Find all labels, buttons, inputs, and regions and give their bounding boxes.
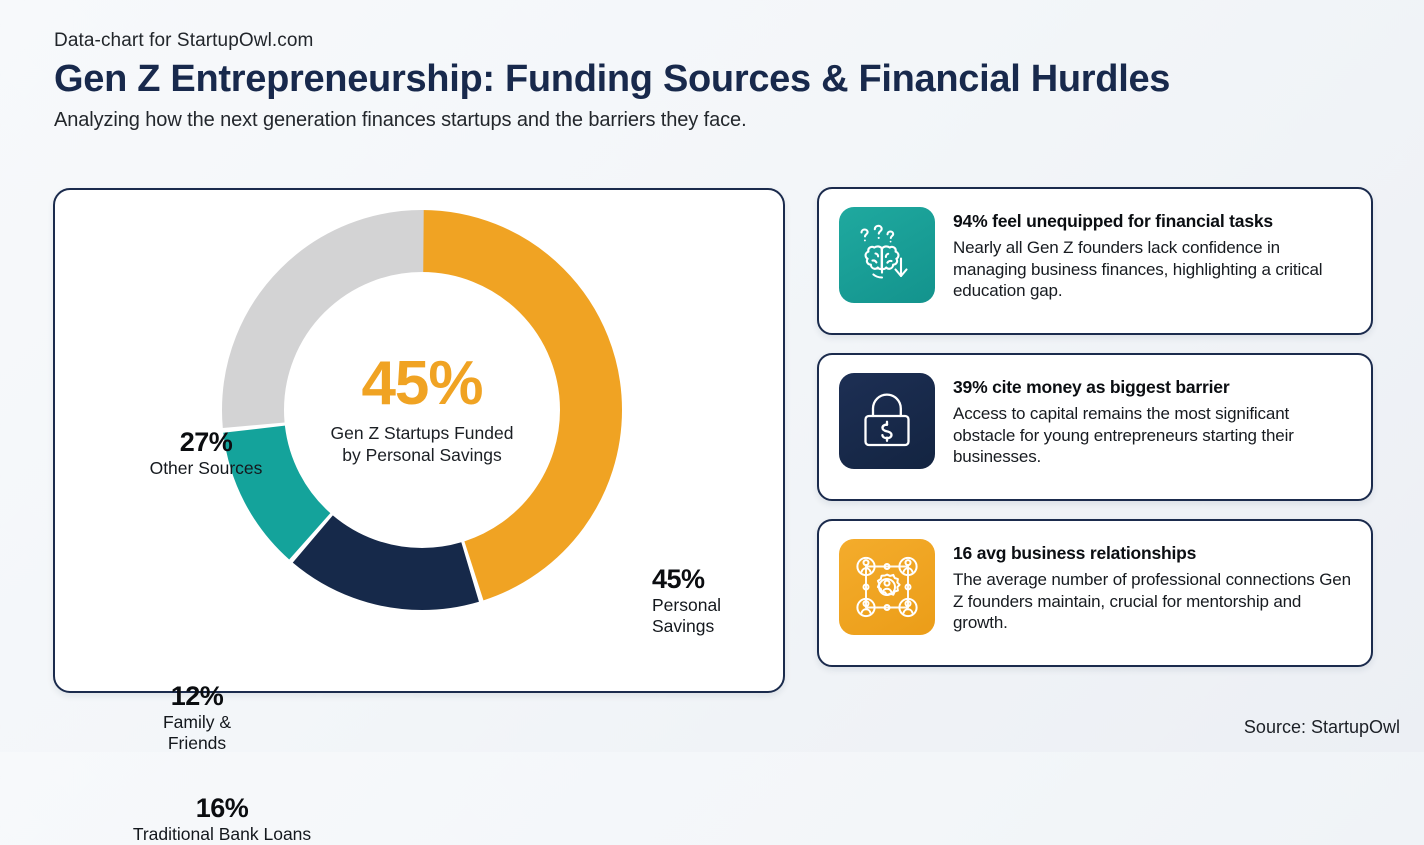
chart-label-family-friends-name-line2: Friends [117,733,277,754]
donut-center-value: 45% [282,353,562,415]
insight-card-title: 94% feel unequipped for financial tasks [953,211,1353,232]
page-title: Gen Z Entrepreneurship: Funding Sources … [54,58,1374,101]
insight-card-text: Access to capital remains the most signi… [953,403,1353,468]
people-network-icon [839,539,935,635]
insight-card-body: 39% cite money as biggest barrier Access… [953,373,1353,468]
chart-label-family-friends-name: Family & Friends [117,712,277,754]
insight-cards: 94% feel unequipped for financial tasks … [817,187,1373,685]
chart-label-traditional-bank-loans: 16% Traditional Bank Loans [77,794,367,845]
lock-dollar-icon [839,373,935,469]
chart-label-other-sources-name: Other Sources [101,458,311,479]
insight-card-text: Nearly all Gen Z founders lack confidenc… [953,237,1353,302]
kicker-text: Data-chart for StartupOwl.com [54,30,1374,52]
donut-chart: 45% Gen Z Startups Funded by Personal Sa… [222,210,622,610]
insight-card-business-relationships: 16 avg business relationships The averag… [817,519,1373,667]
chart-label-family-friends-value: 12% [117,682,277,710]
brain-question-down-arrow-glyph [854,222,920,288]
insight-card-body: 94% feel unequipped for financial tasks … [953,207,1353,302]
insight-card-text: The average number of professional conne… [953,569,1353,634]
chart-label-other-sources-value: 27% [101,428,311,456]
donut-center-caption: Gen Z Startups Funded by Personal Saving… [282,423,562,467]
donut-center-label: 45% Gen Z Startups Funded by Personal Sa… [282,353,562,467]
donut-chart-panel: 45% Gen Z Startups Funded by Personal Sa… [53,188,785,693]
chart-label-personal-savings: 45% Personal Savings [652,565,782,637]
donut-center-caption-line1: Gen Z Startups Funded [282,423,562,445]
donut-center-caption-line2: by Personal Savings [282,445,562,467]
chart-label-other-sources: 27% Other Sources [101,428,311,479]
chart-label-personal-savings-name-line2: Savings [652,616,782,637]
insight-card-body: 16 avg business relationships The averag… [953,539,1353,634]
insight-card-financial-tasks: 94% feel unequipped for financial tasks … [817,187,1373,335]
chart-label-personal-savings-value: 45% [652,565,782,593]
page-subtitle: Analyzing how the next generation financ… [54,109,1374,132]
people-network-glyph [853,553,921,621]
chart-label-family-friends: 12% Family & Friends [117,682,277,754]
insight-card-title: 39% cite money as biggest barrier [953,377,1353,398]
brain-question-down-arrow-icon [839,207,935,303]
source-note: Source: StartupOwl [1244,717,1400,738]
lock-dollar-glyph [857,390,917,452]
header: Data-chart for StartupOwl.com Gen Z Entr… [54,30,1374,132]
insight-card-money-barrier: 39% cite money as biggest barrier Access… [817,353,1373,501]
chart-label-personal-savings-name-line1: Personal [652,595,782,616]
chart-label-family-friends-name-line1: Family & [117,712,277,733]
insight-card-title: 16 avg business relationships [953,543,1353,564]
chart-label-personal-savings-name: Personal Savings [652,595,782,637]
chart-label-traditional-bank-loans-value: 16% [77,794,367,822]
chart-label-traditional-bank-loans-name: Traditional Bank Loans [77,824,367,845]
